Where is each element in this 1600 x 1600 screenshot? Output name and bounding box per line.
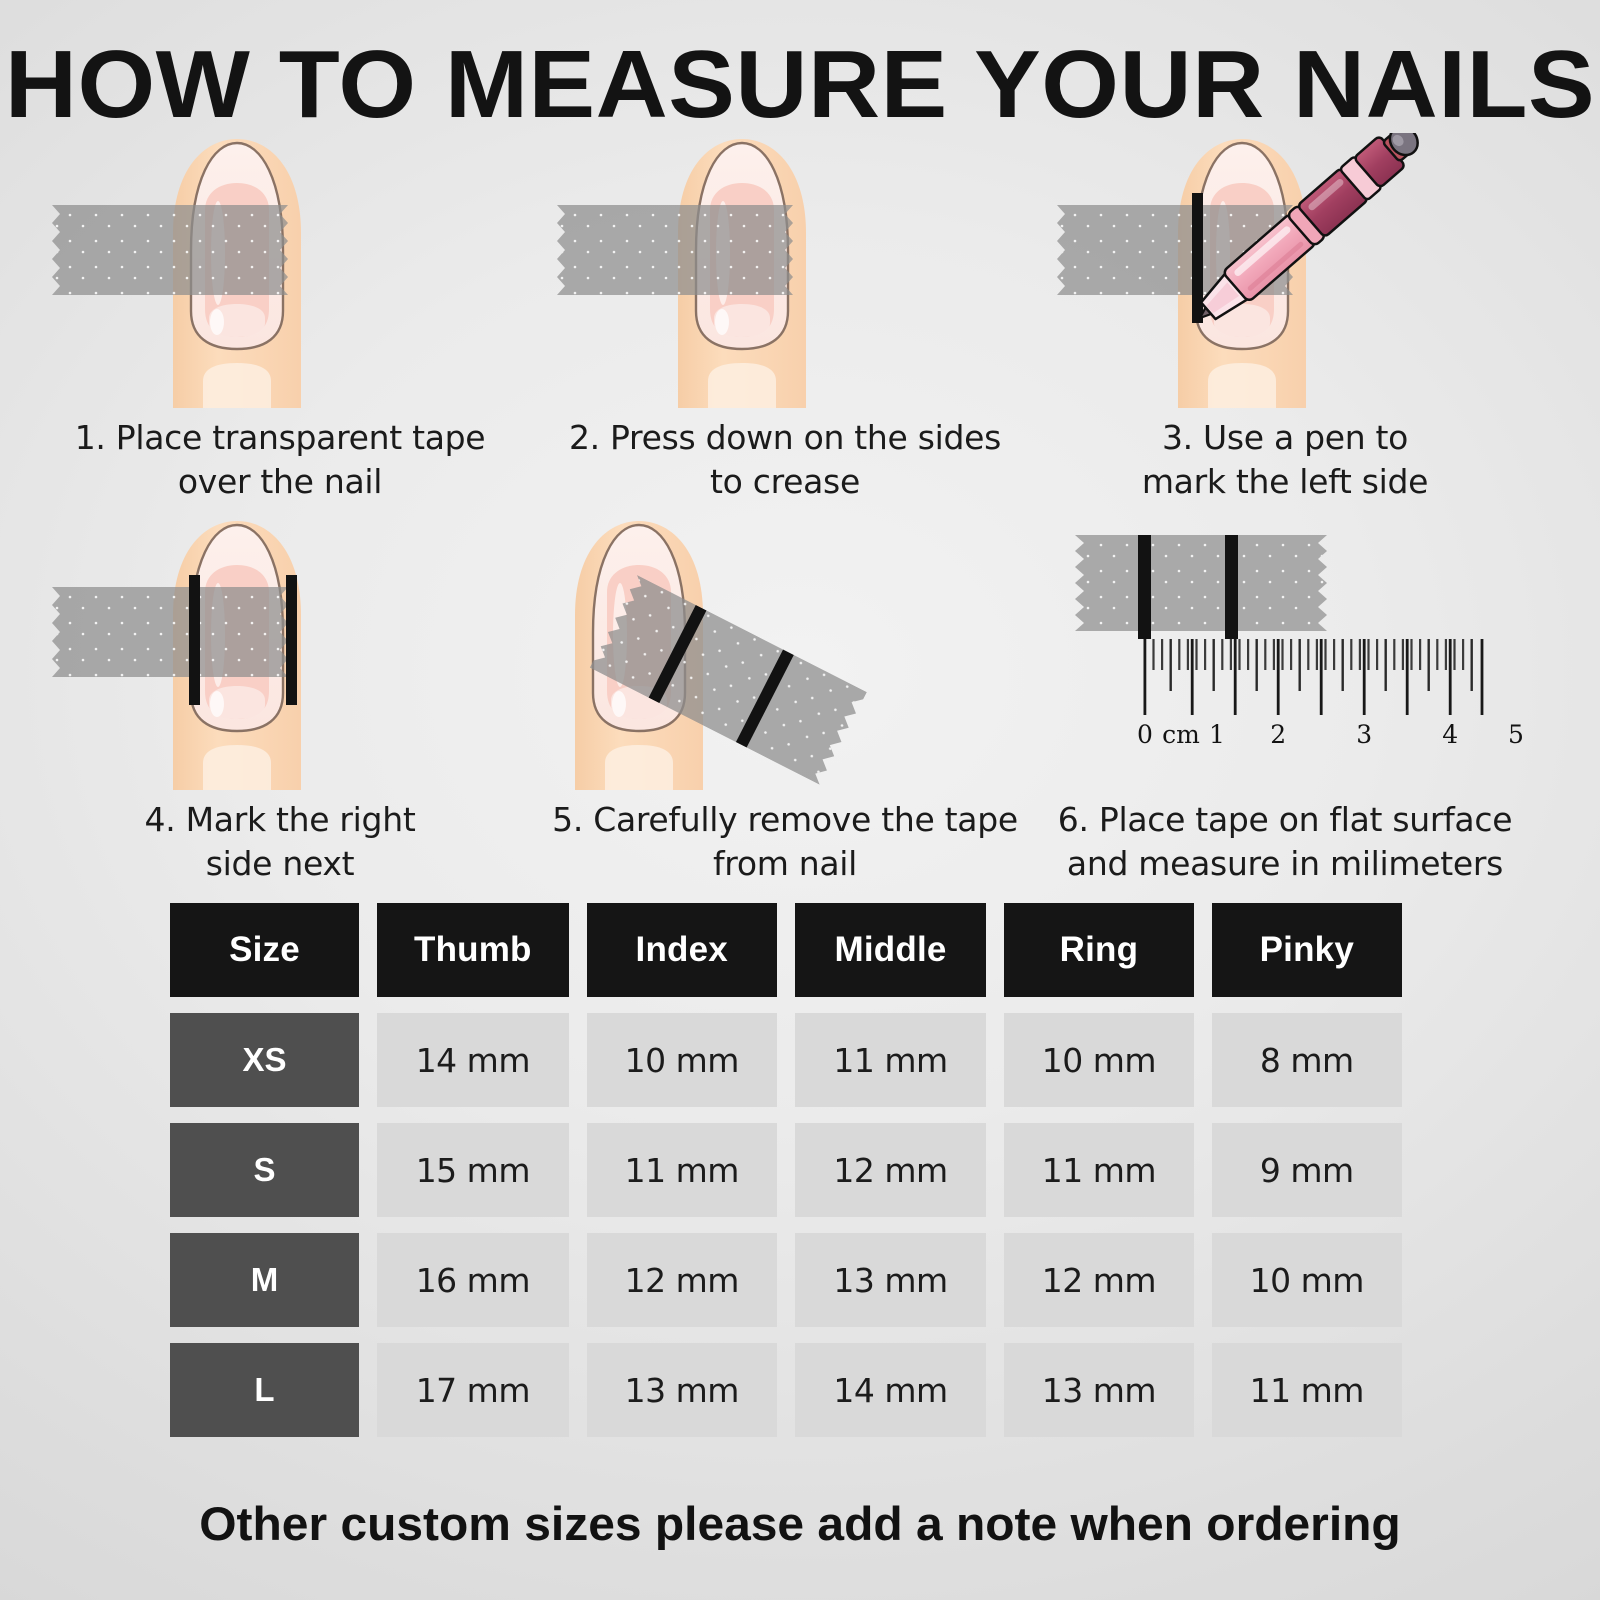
ruler-label-2: 2	[1270, 720, 1286, 749]
size-label-xs: XS	[170, 1013, 359, 1107]
cell-xs-index: 10 mm	[587, 1013, 777, 1107]
finger-tape-pen-graphic	[1045, 133, 1525, 408]
step-6-caption-line1: 6. Place tape on flat surface	[1045, 798, 1525, 842]
cell-l-ring: 13 mm	[1004, 1343, 1193, 1437]
step-1-caption-line2: over the nail	[40, 460, 520, 504]
finger-tape-both-marks-graphic	[40, 515, 520, 790]
tape-mark-left	[1138, 535, 1151, 639]
step-3-illustration	[1045, 133, 1525, 408]
ruler: 0 cm 1 2 3 4 5	[1137, 639, 1524, 749]
step-4: 4. Mark the right side next	[40, 515, 520, 886]
step-2-illustration	[545, 133, 1025, 408]
column-header-thumb: Thumb	[377, 903, 569, 997]
step-1-caption: 1. Place transparent tape over the nail	[40, 416, 520, 504]
table-header: Size Thumb Index Middle Ring Pinky	[170, 903, 1402, 997]
cell-l-pinky: 11 mm	[1212, 1343, 1402, 1437]
step-4-caption-line2: side next	[40, 842, 520, 886]
cell-xs-middle: 11 mm	[795, 1013, 986, 1107]
ruler-label-0: 0	[1137, 720, 1153, 749]
step-6-caption-line2: and measure in milimeters	[1045, 842, 1525, 886]
step-6-illustration: 0 cm 1 2 3 4 5	[1045, 515, 1525, 790]
cell-m-thumb: 16 mm	[377, 1233, 569, 1327]
step-5-caption-line2: from nail	[545, 842, 1025, 886]
step-4-caption-line1: 4. Mark the right	[40, 798, 520, 842]
cell-m-index: 12 mm	[587, 1233, 777, 1327]
tape-mark-right	[1225, 535, 1238, 639]
step-5-caption: 5. Carefully remove the tape from nail	[545, 798, 1025, 886]
ruler-label-cm: cm	[1162, 720, 1200, 749]
step-2-caption-line2: to crease	[545, 460, 1025, 504]
page-title: HOW TO MEASURE YOUR NAILS	[0, 30, 1600, 140]
step-5-illustration	[545, 515, 1025, 790]
cell-xs-pinky: 8 mm	[1212, 1013, 1402, 1107]
cell-s-ring: 11 mm	[1004, 1123, 1193, 1217]
cell-m-middle: 13 mm	[795, 1233, 986, 1327]
cell-s-middle: 12 mm	[795, 1123, 986, 1217]
cell-m-pinky: 10 mm	[1212, 1233, 1402, 1327]
finger-with-tape-graphic	[40, 133, 520, 408]
step-2: 2. Press down on the sides to crease	[545, 133, 1025, 504]
finger-tape-peeled-graphic	[545, 515, 1025, 790]
left-pen-mark	[189, 575, 200, 705]
ruler-label-3: 3	[1356, 720, 1372, 749]
cell-xs-ring: 10 mm	[1004, 1013, 1193, 1107]
step-3-caption: 3. Use a pen to mark the left side	[1045, 416, 1525, 504]
table-header-row: Size Thumb Index Middle Ring Pinky	[170, 903, 1402, 997]
step-1: 1. Place transparent tape over the nail	[40, 133, 520, 504]
tape-on-ruler-graphic: 0 cm 1 2 3 4 5	[1045, 515, 1525, 790]
ruler-label-4: 4	[1442, 720, 1458, 749]
flat-tape	[1065, 529, 1337, 639]
ruler-label-1: 1	[1209, 720, 1225, 749]
size-label-m: M	[170, 1233, 359, 1327]
step-3: 3. Use a pen to mark the left side	[1045, 133, 1525, 504]
column-header-size: Size	[170, 903, 359, 997]
cell-xs-thumb: 14 mm	[377, 1013, 569, 1107]
table-row: XS 14 mm 10 mm 11 mm 10 mm 8 mm	[170, 1013, 1402, 1107]
step-1-illustration	[40, 133, 520, 408]
step-2-caption-line1: 2. Press down on the sides	[545, 416, 1025, 460]
finger-tape-creased-graphic	[545, 133, 1025, 408]
ruler-label-5: 5	[1508, 720, 1524, 749]
cell-s-index: 11 mm	[587, 1123, 777, 1217]
step-3-caption-line1: 3. Use a pen to	[1045, 416, 1525, 460]
cell-s-pinky: 9 mm	[1212, 1123, 1402, 1217]
table-row: L 17 mm 13 mm 14 mm 13 mm 11 mm	[170, 1343, 1402, 1437]
cell-l-thumb: 17 mm	[377, 1343, 569, 1437]
custom-size-note: Other custom sizes please add a note whe…	[0, 1496, 1600, 1551]
infographic-page: HOW TO MEASURE YOUR NAILS	[0, 0, 1600, 1600]
cell-m-ring: 12 mm	[1004, 1233, 1193, 1327]
table-row: M 16 mm 12 mm 13 mm 12 mm 10 mm	[170, 1233, 1402, 1327]
right-pen-mark	[286, 575, 297, 705]
step-3-caption-line2: mark the left side	[1045, 460, 1525, 504]
step-6: 0 cm 1 2 3 4 5 6. Place tape on flat sur…	[1045, 515, 1525, 886]
step-6-caption: 6. Place tape on flat surface and measur…	[1045, 798, 1525, 886]
size-chart-table: Size Thumb Index Middle Ring Pinky XS 14…	[152, 887, 1420, 1453]
size-label-l: L	[170, 1343, 359, 1437]
cell-l-middle: 14 mm	[795, 1343, 986, 1437]
size-label-s: S	[170, 1123, 359, 1217]
column-header-ring: Ring	[1004, 903, 1193, 997]
table-row: S 15 mm 11 mm 12 mm 11 mm 9 mm	[170, 1123, 1402, 1217]
column-header-middle: Middle	[795, 903, 986, 997]
step-5-caption-line1: 5. Carefully remove the tape	[545, 798, 1025, 842]
step-5: 5. Carefully remove the tape from nail	[545, 515, 1025, 886]
column-header-index: Index	[587, 903, 777, 997]
step-2-caption: 2. Press down on the sides to crease	[545, 416, 1025, 504]
cell-l-index: 13 mm	[587, 1343, 777, 1437]
step-1-caption-line1: 1. Place transparent tape	[40, 416, 520, 460]
step-4-illustration	[40, 515, 520, 790]
table-body: XS 14 mm 10 mm 11 mm 10 mm 8 mm S 15 mm …	[170, 1013, 1402, 1437]
cell-s-thumb: 15 mm	[377, 1123, 569, 1217]
step-4-caption: 4. Mark the right side next	[40, 798, 520, 886]
column-header-pinky: Pinky	[1212, 903, 1402, 997]
